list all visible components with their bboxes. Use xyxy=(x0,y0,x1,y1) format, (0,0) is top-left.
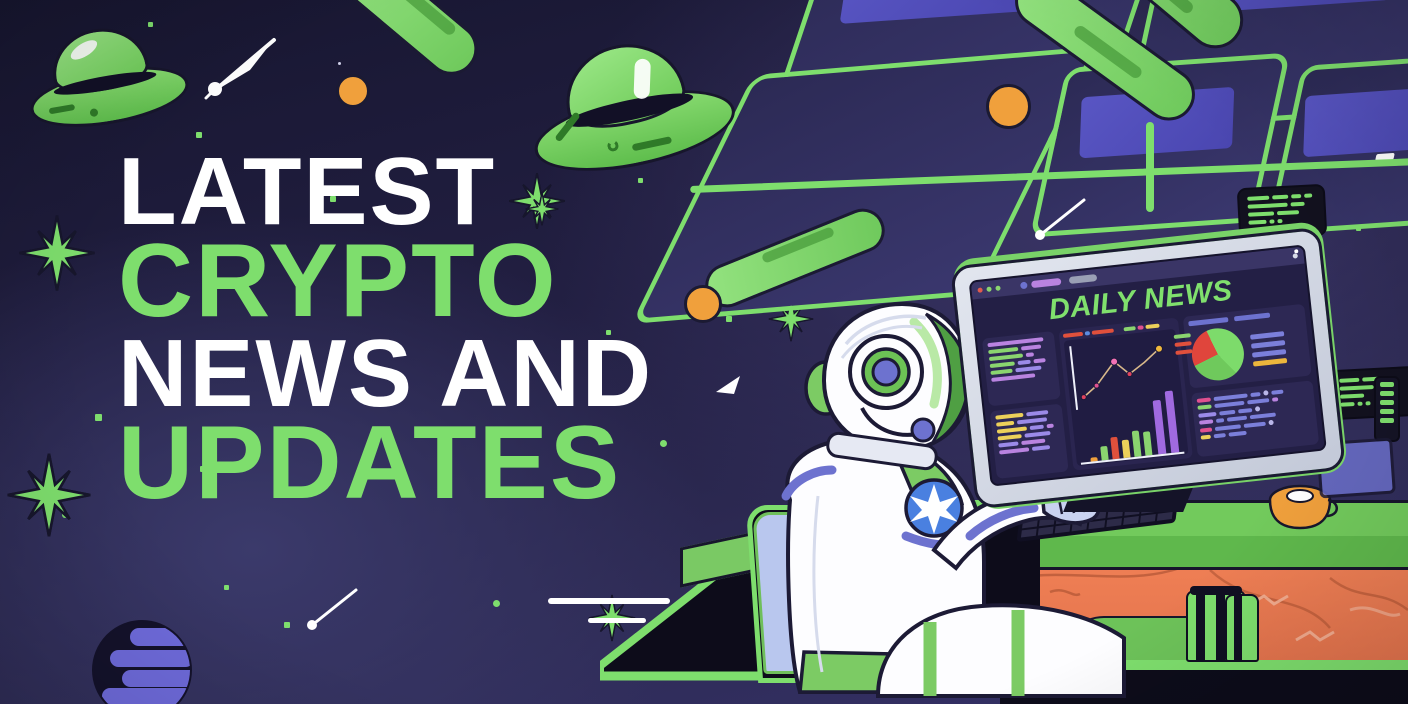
poster-canvas: DAILY NEWS xyxy=(0,0,1408,704)
headline-line-4: UPDATES xyxy=(118,414,653,514)
panel-pie xyxy=(1183,304,1312,389)
browser-address-bar[interactable] xyxy=(1069,274,1098,284)
panel-left-bottom xyxy=(990,404,1069,479)
astronaut-leg xyxy=(872,586,1152,704)
sparkle-icon xyxy=(18,214,96,292)
sparkle-icon xyxy=(6,452,92,538)
monitor-bezel: DAILY NEWS xyxy=(950,227,1346,510)
browser-dot-max[interactable] xyxy=(995,285,1001,291)
planet-striped xyxy=(92,620,192,704)
panel-right-bottom xyxy=(1191,380,1319,457)
headline-line-2: CRYPTO xyxy=(118,232,653,332)
browser-dot-min[interactable] xyxy=(986,286,992,292)
monitor[interactable]: DAILY NEWS xyxy=(950,227,1346,510)
chart-panel xyxy=(1058,317,1193,470)
side-panel-slots xyxy=(1374,376,1400,442)
triangle-icon xyxy=(712,368,746,398)
price-line-series xyxy=(1064,329,1184,421)
browser-menu-icon[interactable] xyxy=(1293,253,1299,259)
window-mullion xyxy=(1146,122,1154,212)
shooting-star-icon xyxy=(1028,196,1090,242)
chart-legend xyxy=(1174,333,1193,355)
dashboard-left-column xyxy=(982,331,1069,479)
browser-favicon xyxy=(1020,282,1028,290)
page-title-headline: LATEST CRYPTO NEWS AND UPDATES xyxy=(118,146,653,514)
panel-left-top xyxy=(982,331,1061,406)
chart-plot xyxy=(1064,329,1189,466)
dashboard-right-column xyxy=(1183,304,1320,457)
ufo-small xyxy=(19,15,194,139)
shooting-star-icon xyxy=(196,36,290,102)
shooting-star-icon xyxy=(300,586,362,632)
browser-tab[interactable] xyxy=(1031,278,1062,288)
pie-chart xyxy=(1189,326,1246,383)
monitor-screen[interactable]: DAILY NEWS xyxy=(969,244,1327,486)
browser-dot-close[interactable] xyxy=(977,287,983,293)
